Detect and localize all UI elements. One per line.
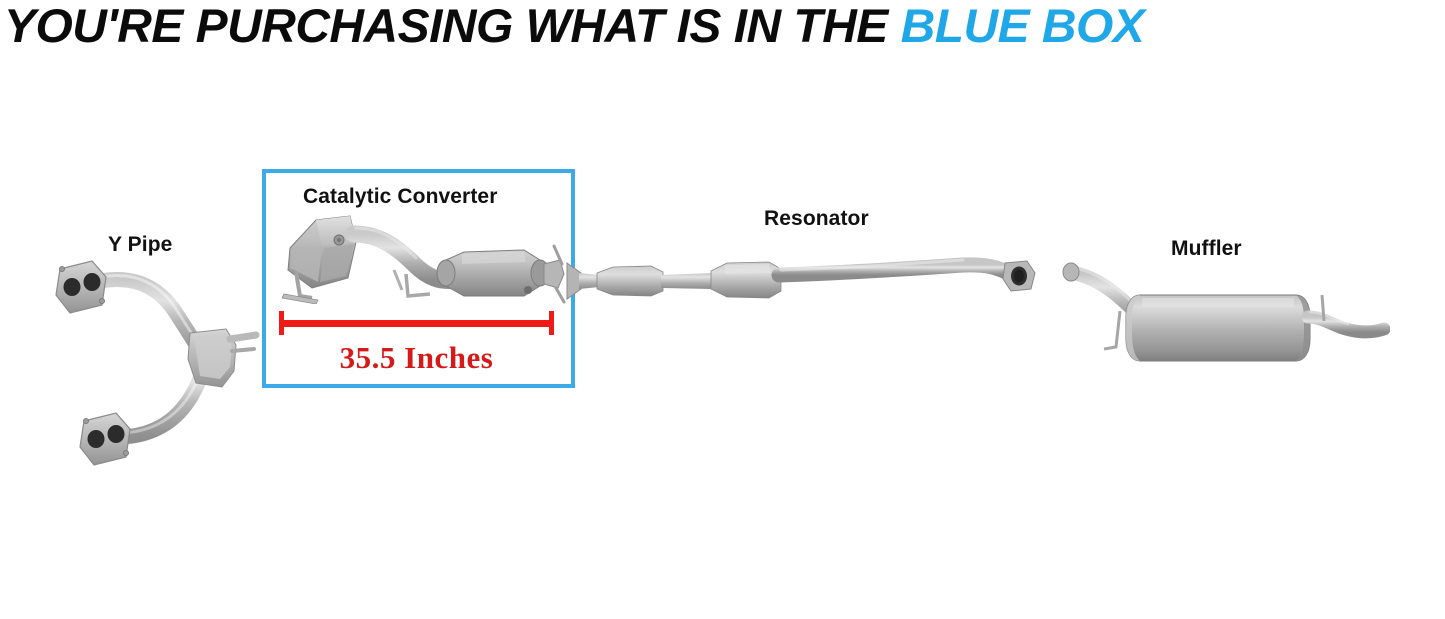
part-label-catalytic-converter: Catalytic Converter xyxy=(303,185,497,209)
product-diagram-page: YOU'RE PURCHASING WHAT IS IN THE BLUE BO… xyxy=(0,0,1445,619)
dimension-value: 35.5 Inches xyxy=(279,340,554,376)
part-label-resonator: Resonator xyxy=(764,207,869,231)
banner-text-black: YOU'RE PURCHASING WHAT IS IN THE xyxy=(4,0,901,52)
header-banner: YOU'RE PURCHASING WHAT IS IN THE BLUE BO… xyxy=(0,0,1445,56)
banner-text-blue: BLUE BOX xyxy=(901,0,1145,52)
y-pipe-illustration xyxy=(50,255,265,470)
muffler-illustration xyxy=(1060,255,1390,365)
banner-text-line: YOU'RE PURCHASING WHAT IS IN THE BLUE BO… xyxy=(4,0,1144,54)
part-label-y-pipe: Y Pipe xyxy=(108,233,172,257)
dimension-bar xyxy=(279,311,554,335)
dimension-line xyxy=(279,320,554,327)
catalytic-converter-illustration xyxy=(278,212,573,304)
dimension-cap-right xyxy=(549,311,554,335)
resonator-illustration xyxy=(565,245,1065,315)
